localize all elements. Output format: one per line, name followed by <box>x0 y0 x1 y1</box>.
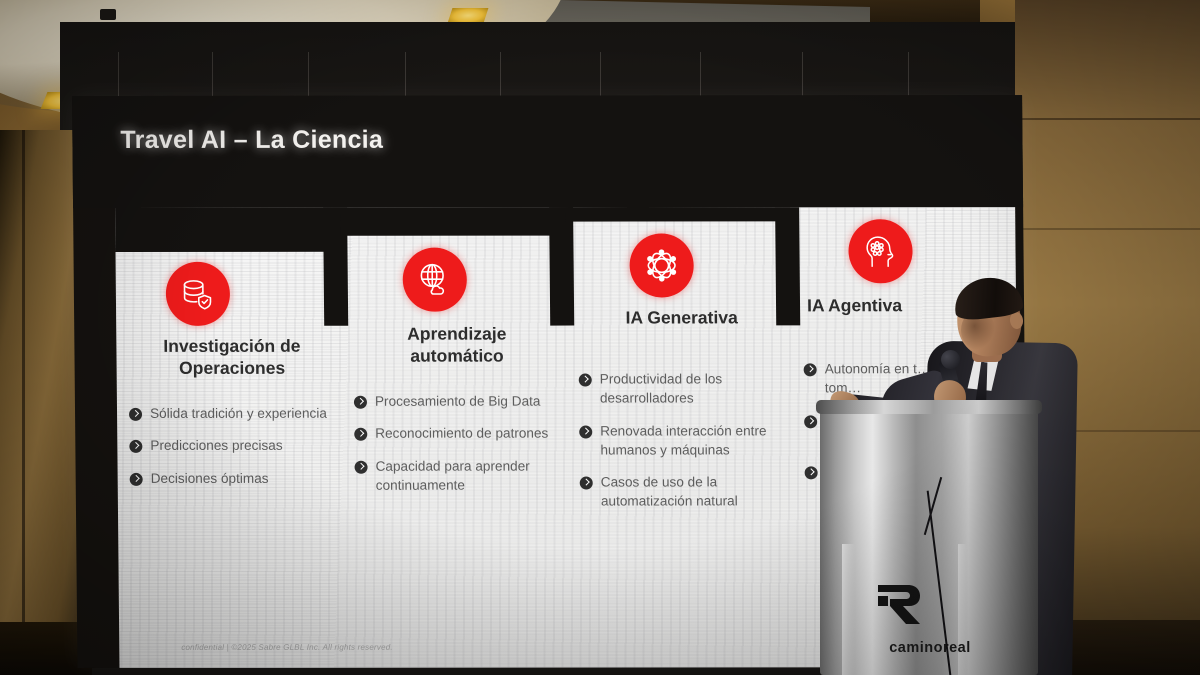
database-shield-icon <box>166 262 231 326</box>
slide-header-band: Travel AI – La Ciencia <box>72 95 1023 208</box>
podium: caminoreal <box>820 408 1038 675</box>
atom-network-icon <box>629 233 694 297</box>
wall-seam <box>1015 228 1200 230</box>
card-bullet-list: Productividad de los desarrolladoresReno… <box>579 369 789 524</box>
globe-cloud-icon <box>402 248 467 312</box>
page-title: Travel AI – La Ciencia <box>120 126 383 155</box>
list-item-label: Productividad de los desarrolladores <box>600 369 788 408</box>
card-title: Aprendizajeautomático <box>357 324 556 368</box>
chevron-right-icon <box>129 408 142 421</box>
chevron-right-icon <box>354 428 367 441</box>
ceiling-light-icon <box>448 8 489 23</box>
list-item: Sólida tradición y experiencia <box>129 404 338 423</box>
card-title: Investigación deOperaciones <box>132 336 331 380</box>
ceiling-speaker-device <box>100 9 116 20</box>
wall-edge-left <box>22 130 25 675</box>
list-item: Capacidad para aprender continuamente <box>354 456 563 495</box>
list-item-label: Procesamiento de Big Data <box>375 392 541 411</box>
chevron-right-icon <box>804 363 817 376</box>
conference-room-scene: Travel AI – La Ciencia <box>0 0 1200 675</box>
list-item-label: Casos de uso de la automatización natura… <box>601 473 789 512</box>
wall-seam <box>1015 118 1200 120</box>
list-item: Productividad de los desarrolladores <box>579 369 788 408</box>
chevron-right-icon <box>805 467 818 480</box>
chevron-right-icon <box>579 425 592 438</box>
card-title: IA Generativa <box>582 307 781 329</box>
card-ia-generativa[interactable]: IA Generativa Productividad de los desar… <box>565 207 794 667</box>
list-item: Procesamiento de Big Data <box>354 392 563 411</box>
list-item-label: Decisiones óptimas <box>151 468 269 487</box>
card-aprendizaje-automatico[interactable]: Aprendizajeautomático Procesamiento de B… <box>340 208 569 668</box>
card-top-mask <box>115 208 340 252</box>
chevron-right-icon <box>355 460 368 473</box>
list-item: Decisiones óptimas <box>130 468 339 487</box>
list-item-label: Sólida tradición y experiencia <box>150 404 327 423</box>
chevron-right-icon <box>130 473 143 486</box>
card-investigacion-de-operaciones[interactable]: Investigación deOperaciones Sólida tradi… <box>115 208 344 668</box>
list-item: Casos de uso de la automatización natura… <box>580 473 789 512</box>
chevron-right-icon <box>579 374 592 387</box>
list-item: Renovada interacción entre humanos y máq… <box>579 421 788 460</box>
chevron-right-icon <box>354 396 367 409</box>
caminoreal-logo <box>868 576 930 634</box>
card-bullet-list: Sólida tradición y experienciaPrediccion… <box>129 404 339 501</box>
slide-footer-copyright: confidential | ©2025 Sabre GLBL Inc. All… <box>181 643 393 652</box>
speaker-and-podium: caminoreal <box>820 280 1200 675</box>
card-bullet-list: Procesamiento de Big DataReconocimiento … <box>354 392 564 508</box>
list-item: Reconocimiento de patrones <box>354 424 563 443</box>
card-top-mask <box>340 208 565 236</box>
list-item-label: Predicciones precisas <box>150 436 282 455</box>
brain-head-icon <box>848 219 913 283</box>
podium-brand-label: caminoreal <box>850 640 1010 656</box>
chevron-right-icon <box>129 440 142 453</box>
chevron-right-icon <box>580 477 593 490</box>
podium-top-surface <box>816 400 1042 414</box>
list-item-label: Reconocimiento de patrones <box>375 424 548 443</box>
card-top-mask <box>565 207 790 221</box>
list-item-label: Capacidad para aprender continuamente <box>375 456 563 495</box>
list-item-label: Renovada interacción entre humanos y máq… <box>600 421 788 460</box>
list-item: Predicciones precisas <box>129 436 338 455</box>
chevron-right-icon <box>804 415 817 428</box>
